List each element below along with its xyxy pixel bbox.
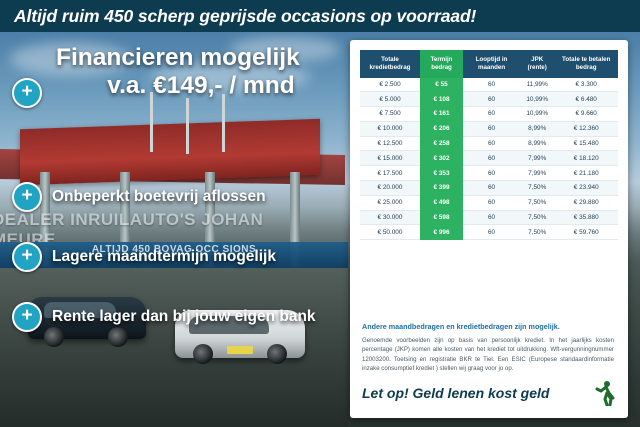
top-banner: Altijd ruim 450 scherp geprijsde occasio… — [0, 0, 640, 32]
cell-total-credit: € 12.500 — [360, 136, 420, 151]
cell-total-payable: € 6.480 — [554, 92, 618, 107]
cell-duration: 60 — [463, 78, 520, 92]
list-item: + Lagere maandtermijn mogelijk — [12, 242, 348, 272]
cell-term-amount: € 498 — [420, 195, 463, 210]
cell-jkp: 7,99% — [520, 151, 554, 166]
list-item: + Onbeperkt boetevrij aflossen — [12, 182, 348, 212]
table-row: € 17.500 € 353 60 7,99% € 21.180 — [360, 166, 618, 181]
table-row: € 7.500 € 161 60 10,99% € 9.660 — [360, 107, 618, 122]
cell-term-amount: € 258 — [420, 136, 463, 151]
plus-icon: + — [12, 78, 42, 108]
card-footer: Let op! Geld lenen kost geld — [362, 380, 616, 406]
cell-duration: 60 — [463, 107, 520, 122]
flag-pole — [186, 98, 189, 154]
plus-icon: + — [12, 242, 42, 272]
cell-total-credit: € 15.000 — [360, 151, 420, 166]
table-row: € 2.500 € 55 60 11,99% € 3.300 — [360, 78, 618, 92]
cell-duration: 60 — [463, 195, 520, 210]
cell-total-credit: € 50.000 — [360, 225, 420, 240]
table-body: € 2.500 € 55 60 11,99% € 3.300 € 5.000 €… — [360, 78, 618, 240]
cell-total-payable: € 29.880 — [554, 195, 618, 210]
cell-total-payable: € 12.360 — [554, 121, 618, 136]
cell-term-amount: € 206 — [420, 121, 463, 136]
table-row: € 12.500 € 258 60 8,99% € 15.480 — [360, 136, 618, 151]
cell-duration: 60 — [463, 210, 520, 225]
col-header-total-payable: Totale te betalen bedrag — [554, 50, 618, 78]
cell-total-payable: € 59.760 — [554, 225, 618, 240]
table-header: Totale kredietbedrag Termijn bedrag Loop… — [360, 50, 618, 78]
rates-card: Totale kredietbedrag Termijn bedrag Loop… — [350, 40, 628, 418]
cell-total-payable: € 3.300 — [554, 78, 618, 92]
benefit-list: + Onbeperkt boetevrij aflossen + Lagere … — [12, 182, 348, 362]
banner-headline: Altijd ruim 450 scherp geprijsde occasio… — [0, 6, 476, 27]
note-body: Genoemde voorbeelden zijn op basis van p… — [362, 336, 614, 374]
cell-jkp: 10,99% — [520, 92, 554, 107]
cell-total-credit: € 7.500 — [360, 107, 420, 122]
table-row: € 25.000 € 498 60 7,50% € 29.880 — [360, 195, 618, 210]
cell-total-credit: € 25.000 — [360, 195, 420, 210]
benefit-label: Rente lager dan bij jouw eigen bank — [52, 308, 316, 326]
cell-duration: 60 — [463, 151, 520, 166]
col-header-jkp: JPK (rente) — [520, 50, 554, 78]
benefit-label: Lagere maandtermijn mogelijk — [52, 248, 276, 266]
cell-jkp: 7,50% — [520, 180, 554, 195]
table-row: € 15.000 € 302 60 7,99% € 18.120 — [360, 151, 618, 166]
table-row: € 10.000 € 206 60 8,99% € 12.360 — [360, 121, 618, 136]
table-row: € 20.000 € 399 60 7,50% € 23.940 — [360, 180, 618, 195]
cell-duration: 60 — [463, 180, 520, 195]
col-header-term-amount: Termijn bedrag — [420, 50, 463, 78]
cell-term-amount: € 996 — [420, 225, 463, 240]
headline-line-2: v.a. €149,- / mnd — [56, 71, 346, 100]
warning-text: Let op! Geld lenen kost geld — [362, 385, 549, 401]
cell-total-payable: € 21.180 — [554, 166, 618, 181]
headline-block: Financieren mogelijk v.a. €149,- / mnd — [56, 44, 346, 101]
plus-icon: + — [12, 182, 42, 212]
cell-total-credit: € 5.000 — [360, 92, 420, 107]
cell-jkp: 7,99% — [520, 166, 554, 181]
cell-term-amount: € 353 — [420, 166, 463, 181]
col-header-duration: Looptijd in maanden — [463, 50, 520, 78]
cell-jkp: 7,50% — [520, 195, 554, 210]
cell-total-payable: € 35.880 — [554, 210, 618, 225]
cell-total-payable: € 23.940 — [554, 180, 618, 195]
cell-total-payable: € 9.660 — [554, 107, 618, 122]
headline-plus-bullet: + — [12, 78, 42, 108]
building-roof — [20, 119, 320, 185]
headline-line-1: Financieren mogelijk — [56, 44, 346, 71]
cell-term-amount: € 399 — [420, 180, 463, 195]
cell-duration: 60 — [463, 225, 520, 240]
cell-jkp: 7,50% — [520, 210, 554, 225]
flag-pole — [222, 94, 225, 152]
cell-total-credit: € 17.500 — [360, 166, 420, 181]
cell-term-amount: € 302 — [420, 151, 463, 166]
cell-jkp: 7,50% — [520, 225, 554, 240]
benefit-label: Onbeperkt boetevrij aflossen — [52, 188, 266, 206]
cell-term-amount: € 161 — [420, 107, 463, 122]
table-header-row: Totale kredietbedrag Termijn bedrag Loop… — [360, 50, 618, 78]
table-row: € 30.000 € 598 60 7,50% € 35.880 — [360, 210, 618, 225]
cell-total-credit: € 2.500 — [360, 78, 420, 92]
cell-term-amount: € 598 — [420, 210, 463, 225]
cell-duration: 60 — [463, 166, 520, 181]
flag-pole — [150, 92, 153, 152]
note-title: Andere maandbedragen en kredietbedragen … — [362, 322, 616, 331]
plus-icon: + — [12, 302, 42, 332]
cell-jkp: 11,99% — [520, 78, 554, 92]
cell-term-amount: € 108 — [420, 92, 463, 107]
cell-duration: 60 — [463, 92, 520, 107]
cell-jkp: 8,99% — [520, 121, 554, 136]
cell-total-credit: € 30.000 — [360, 210, 420, 225]
cell-total-payable: € 15.480 — [554, 136, 618, 151]
cell-duration: 60 — [463, 136, 520, 151]
table-row: € 50.000 € 996 60 7,50% € 59.760 — [360, 225, 618, 240]
rates-table: Totale kredietbedrag Termijn bedrag Loop… — [360, 50, 618, 240]
cell-jkp: 10,99% — [520, 107, 554, 122]
advertisement-page: DEALER INRUILAUTO'S JOHAN MEURE ALTIJD 4… — [0, 0, 640, 427]
col-header-total-credit: Totale kredietbedrag — [360, 50, 420, 78]
cell-total-payable: € 18.120 — [554, 151, 618, 166]
list-item: + Rente lager dan bij jouw eigen bank — [12, 302, 348, 332]
cell-total-credit: € 20.000 — [360, 180, 420, 195]
walking-person-icon — [594, 380, 616, 406]
cell-total-credit: € 10.000 — [360, 121, 420, 136]
cell-jkp: 8,99% — [520, 136, 554, 151]
cell-duration: 60 — [463, 121, 520, 136]
cell-term-amount: € 55 — [420, 78, 463, 92]
table-row: € 5.000 € 108 60 10,99% € 6.480 — [360, 92, 618, 107]
